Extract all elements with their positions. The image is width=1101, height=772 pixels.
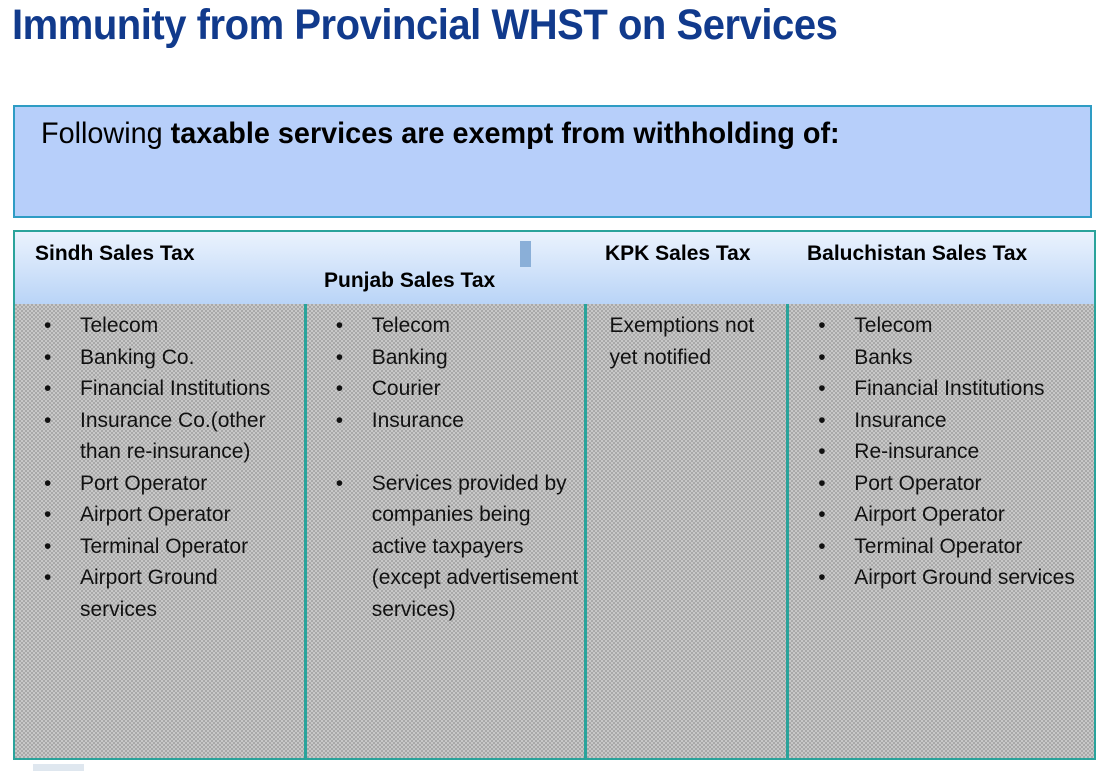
- list-item-label: Services provided by companies being act…: [372, 472, 579, 621]
- bullet-icon: •: [44, 342, 51, 374]
- list-item-spacer: [307, 436, 579, 468]
- list-item: •Airport Ground services: [15, 562, 298, 625]
- column-header-sindh[interactable]: Sindh Sales Tax: [15, 232, 304, 304]
- bullet-icon: •: [818, 405, 825, 437]
- list-item-label: Terminal Operator: [854, 535, 1022, 558]
- list-item: •Terminal Operator: [789, 531, 1088, 563]
- list-item-label: Courier: [372, 377, 441, 400]
- list-item-label: Airport Operator: [854, 503, 1005, 526]
- table-cell-baluchistan: •Telecom •Banks •Financial Institutions …: [786, 304, 1094, 758]
- list-item-label: Insurance Co.(other than re-insurance): [80, 409, 266, 464]
- text-selection-highlight: [520, 241, 531, 267]
- bullet-icon: •: [44, 499, 51, 531]
- bullet-icon: •: [818, 310, 825, 342]
- list-item: •Port Operator: [15, 468, 298, 500]
- subtitle-emphasis: taxable services are exempt from withhol…: [171, 117, 840, 150]
- bullet-icon: •: [818, 436, 825, 468]
- list-item-label: Airport Operator: [80, 503, 231, 526]
- bullet-icon: •: [44, 562, 51, 594]
- kpk-status-text: Exemptions not yet notified: [587, 310, 780, 373]
- list-item-label: Banking: [372, 346, 448, 369]
- table-cell-kpk: Exemptions not yet notified: [584, 304, 786, 758]
- page-title: Immunity from Provincial WHST on Service…: [12, 2, 923, 48]
- bullet-icon: •: [336, 405, 343, 437]
- bullet-icon: •: [44, 405, 51, 437]
- table-cell-punjab: •Telecom •Banking •Courier •Insurance •S…: [304, 304, 585, 758]
- list-item: •Re-insurance: [789, 436, 1088, 468]
- bullet-icon: •: [818, 342, 825, 374]
- subtitle-text: Following taxable services are exempt fr…: [41, 115, 1039, 153]
- bullet-icon: •: [336, 373, 343, 405]
- list-item: •Airport Ground services: [789, 562, 1088, 594]
- list-item: •Airport Operator: [15, 499, 298, 531]
- list-item-label: Port Operator: [80, 472, 207, 495]
- list-item-label: Telecom: [854, 314, 932, 337]
- list-item: •Telecom: [307, 310, 579, 342]
- baluchistan-bullet-list: •Telecom •Banks •Financial Institutions …: [789, 310, 1088, 594]
- punjab-bullet-list: •Telecom •Banking •Courier •Insurance •S…: [307, 310, 579, 625]
- list-item: •Services provided by companies being ac…: [307, 468, 579, 626]
- list-item-label: Port Operator: [854, 472, 981, 495]
- bullet-icon: •: [818, 531, 825, 563]
- list-item: •Banking: [307, 342, 579, 374]
- bullet-icon: •: [44, 468, 51, 500]
- table-cell-sindh: •Telecom •Banking Co. •Financial Institu…: [15, 304, 304, 758]
- bullet-icon: •: [336, 468, 343, 500]
- list-item: •Banks: [789, 342, 1088, 374]
- subtitle-banner: Following taxable services are exempt fr…: [13, 105, 1092, 218]
- bullet-icon: •: [44, 373, 51, 405]
- list-item-label: Airport Ground services: [854, 566, 1075, 589]
- list-item: •Insurance: [789, 405, 1088, 437]
- list-item-label: Telecom: [80, 314, 158, 337]
- table-body-row: •Telecom •Banking Co. •Financial Institu…: [15, 304, 1094, 758]
- list-item-label: Terminal Operator: [80, 535, 248, 558]
- bullet-icon: •: [336, 310, 343, 342]
- bullet-icon: •: [44, 531, 51, 563]
- column-header-kpk[interactable]: KPK Sales Tax: [585, 232, 787, 304]
- bullet-icon: •: [818, 499, 825, 531]
- list-item: •Telecom: [15, 310, 298, 342]
- column-header-baluchistan[interactable]: Baluchistan Sales Tax: [787, 232, 1094, 304]
- bullet-icon: •: [336, 342, 343, 374]
- list-item: •Insurance: [307, 405, 579, 437]
- list-item: •Port Operator: [789, 468, 1088, 500]
- list-item: •Courier: [307, 373, 579, 405]
- list-item: •Financial Institutions: [15, 373, 298, 405]
- list-item-label: Banks: [854, 346, 912, 369]
- list-item-label: Airport Ground services: [80, 566, 218, 621]
- list-item-label: Insurance: [854, 409, 946, 432]
- exemption-table: Sindh Sales Tax Punjab Sales Tax KPK Sal…: [13, 230, 1096, 760]
- list-item-label: Financial Institutions: [80, 377, 270, 400]
- bullet-icon: •: [818, 373, 825, 405]
- table-header-row: Sindh Sales Tax Punjab Sales Tax KPK Sal…: [15, 232, 1094, 304]
- list-item-label: Telecom: [372, 314, 450, 337]
- subtitle-lead: Following: [41, 117, 171, 150]
- list-item-label: Financial Institutions: [854, 377, 1044, 400]
- list-item: •Airport Operator: [789, 499, 1088, 531]
- bullet-icon: •: [44, 310, 51, 342]
- bottom-edge-artifact: [33, 764, 84, 771]
- bullet-icon: •: [818, 468, 825, 500]
- list-item-label: Insurance: [372, 409, 464, 432]
- list-item: •Banking Co.: [15, 342, 298, 374]
- list-item-label: Re-insurance: [854, 440, 979, 463]
- bullet-icon: •: [818, 562, 825, 594]
- list-item: •Insurance Co.(other than re-insurance): [15, 405, 298, 468]
- sindh-bullet-list: •Telecom •Banking Co. •Financial Institu…: [15, 310, 298, 625]
- column-header-punjab[interactable]: Punjab Sales Tax: [304, 232, 585, 304]
- list-item: •Telecom: [789, 310, 1088, 342]
- list-item: •Financial Institutions: [789, 373, 1088, 405]
- list-item: •Terminal Operator: [15, 531, 298, 563]
- list-item-label: Banking Co.: [80, 346, 194, 369]
- column-header-punjab-label: Punjab Sales Tax: [324, 269, 495, 292]
